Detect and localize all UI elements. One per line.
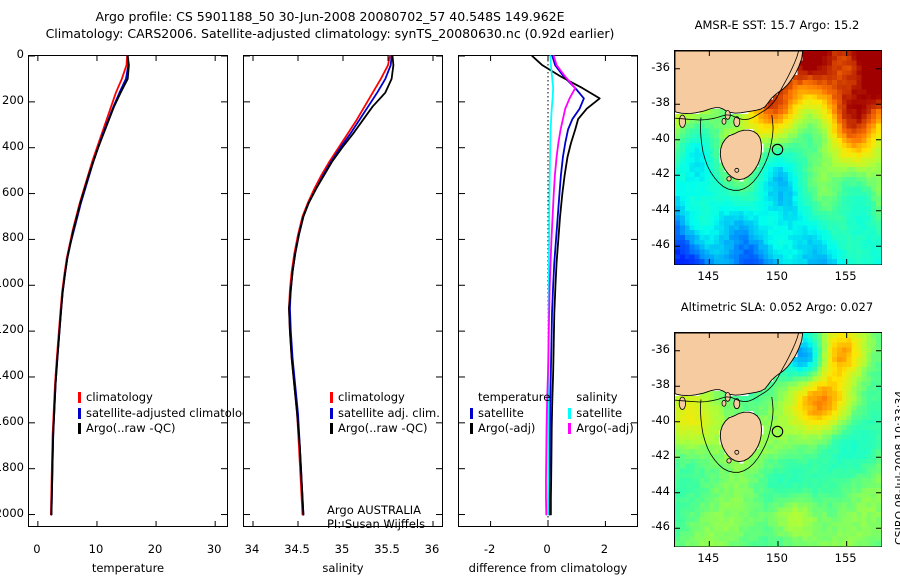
axis-tick-label: 800 [0,230,24,244]
color-swatch-icon [78,423,81,434]
color-swatch-icon [568,423,571,434]
color-swatch-icon [330,392,333,403]
axis-tick-label: -38 [634,377,670,391]
axis-tick-label: 155 [826,551,866,565]
salinity-xaxis-label: salinity [243,561,443,575]
axis-tick-label: 0 [527,542,567,556]
legend-item: Argo(-adj) [568,421,633,437]
legend-label: climatology [338,390,405,406]
legend-label: salinity [576,390,617,406]
legend-label: Argo(..raw -QC) [338,421,428,437]
sst-map[interactable] [674,50,882,265]
axis-tick-label: 1800 [0,460,24,474]
axis-tick-label: -36 [634,60,670,74]
legend-item: Argo(-adj) [470,421,550,437]
difference-profile-plot[interactable] [458,55,638,527]
axis-tick-label: 145 [688,551,728,565]
axis-tick-label: 2 [584,542,624,556]
difference-legend-salinity: salinity satellite Argo(-adj) [568,390,633,437]
color-swatch-icon [470,423,473,434]
color-swatch-icon [78,408,81,419]
difference-legend: temperature satellite Argo(-adj) salinit… [470,390,634,437]
color-swatch-icon [78,392,81,403]
legend-item: satellite [568,406,633,422]
axis-tick-label: 35.5 [365,542,409,556]
axis-tick-label: 150 [757,551,797,565]
legend-item: satellite-adjusted climatology [78,406,256,422]
sla-map-title: Altimetric SLA: 0.052 Argo: 0.027 [672,300,882,314]
axis-tick-label: -44 [634,484,670,498]
legend-label: Argo(..raw -QC) [86,421,176,437]
axis-tick-label: 0 [0,47,24,61]
credit-org: Argo AUSTRALIA [327,503,425,517]
legend-group-header: temperature [470,390,550,406]
page-title: Argo profile: CS 5901188_50 30-Jun-2008 … [0,8,660,42]
temperature-xaxis-label: temperature [28,561,228,575]
axis-tick-label: 30 [194,542,234,556]
color-swatch-icon [330,423,333,434]
legend-item: Argo(..raw -QC) [78,421,256,437]
axis-tick-label: 1200 [0,322,24,336]
legend-item: satellite [470,406,550,422]
axis-tick-label: 2000 [0,506,24,520]
difference-legend-temperature: temperature satellite Argo(-adj) [470,390,550,437]
color-swatch-icon [568,408,571,419]
legend-item: Argo(..raw -QC) [330,421,440,437]
csiro-timestamp: CSIRO 08-Jul-2008 10:33:34 [893,391,900,545]
legend-label: Argo(-adj) [576,421,633,437]
axis-tick-label: 200 [0,93,24,107]
salinity-profile-plot[interactable] [243,55,443,527]
axis-tick-label: 600 [0,185,24,199]
axis-tick-label: -36 [634,342,670,356]
legend-item: satellite adj. clim. [330,406,440,422]
credit-pi: PI: Susan Wijffels [327,517,425,531]
legend-group-header: salinity [568,390,633,406]
axis-tick-label: 20 [135,542,175,556]
page-title-line2: Climatology: CARS2006. Satellite-adjuste… [0,25,660,42]
axis-tick-label: 150 [757,269,797,283]
legend-label: Argo(-adj) [478,421,535,437]
axis-tick-label: 1600 [0,414,24,428]
color-swatch-icon [470,408,473,419]
axis-tick-label: 400 [0,139,24,153]
legend-label: satellite [478,406,524,422]
axis-tick-label: 36 [410,542,454,556]
axis-tick-label: 34.5 [275,542,319,556]
axis-tick-label: -46 [634,237,670,251]
axis-tick-label: 145 [688,269,728,283]
page-title-line1: Argo profile: CS 5901188_50 30-Jun-2008 … [0,8,660,25]
axis-tick-label: 34 [230,542,274,556]
legend-item: climatology [330,390,440,406]
salinity-legend: climatology satellite adj. clim. Argo(..… [330,390,440,437]
axis-tick-label: 35 [320,542,364,556]
axis-tick-label: 10 [76,542,116,556]
argo-credit: Argo AUSTRALIA PI: Susan Wijffels [327,503,425,531]
axis-tick-label: 1000 [0,276,24,290]
axis-tick-label: 1400 [0,368,24,382]
axis-tick-label: -40 [634,131,670,145]
legend-item: climatology [78,390,256,406]
axis-tick-label: -2 [470,542,510,556]
axis-tick-label: -44 [634,202,670,216]
legend-label: satellite adj. clim. [338,406,440,422]
axis-tick-label: -46 [634,519,670,533]
sst-map-title: AMSR-E SST: 15.7 Argo: 15.2 [672,18,882,32]
legend-label: satellite [576,406,622,422]
legend-label: satellite-adjusted climatology [86,406,256,422]
temperature-profile-plot[interactable] [28,55,228,527]
axis-tick-label: 155 [826,269,866,283]
difference-xaxis-label: difference from climatology [458,561,638,575]
color-swatch-icon [330,408,333,419]
axis-tick-label: -38 [634,95,670,109]
legend-label: climatology [86,390,153,406]
legend-label: temperature [478,390,550,406]
axis-tick-label: -42 [634,166,670,180]
axis-tick-label: -42 [634,448,670,462]
temperature-legend: climatology satellite-adjusted climatolo… [78,390,256,437]
axis-tick-label: -40 [634,413,670,427]
sla-map[interactable] [674,332,882,547]
axis-tick-label: 0 [17,542,57,556]
